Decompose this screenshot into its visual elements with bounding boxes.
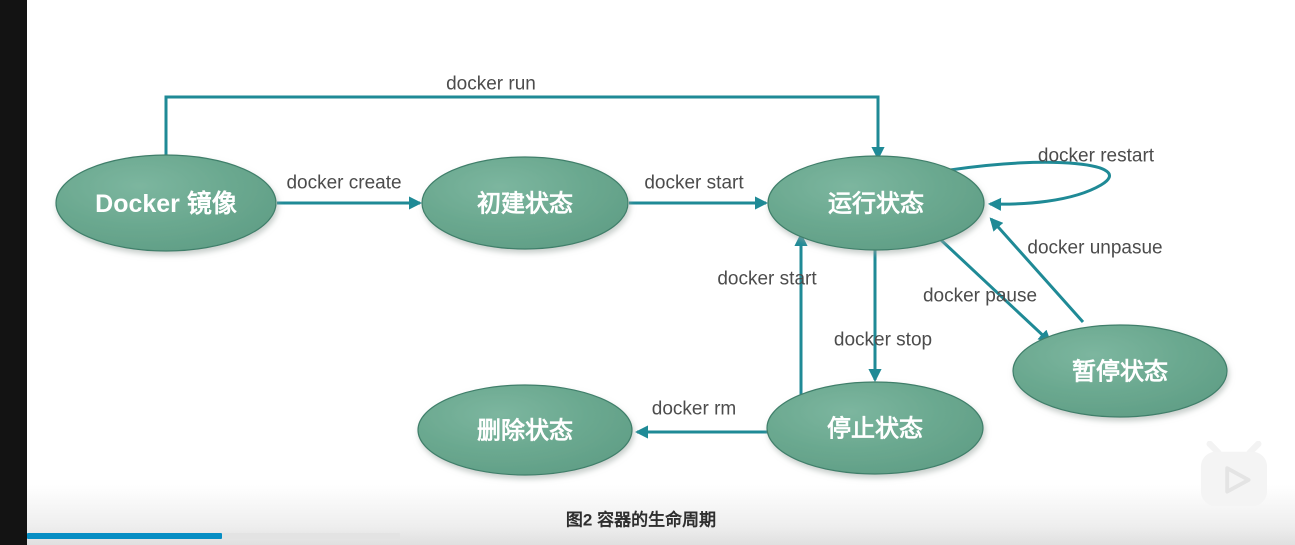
video-player[interactable]: Docker 镜像 初建状态 运行状态 暂停状态 停止状态 删除状态 bbox=[0, 0, 1295, 545]
edge-label-docker-run: docker run bbox=[446, 74, 536, 95]
node-removed-state[interactable]: 删除状态 bbox=[418, 385, 632, 475]
node-stopped-state[interactable]: 停止状态 bbox=[767, 382, 983, 474]
node-paused-state-label: 暂停状态 bbox=[1072, 358, 1168, 386]
docker-container-lifecycle-diagram: Docker 镜像 初建状态 运行状态 暂停状态 停止状态 删除状态 bbox=[0, 0, 1268, 545]
node-running-state-label: 运行状态 bbox=[828, 190, 924, 218]
edge-docker-run bbox=[166, 97, 878, 158]
edge-label-docker-start-created: docker start bbox=[644, 173, 744, 194]
node-stopped-state-label: 停止状态 bbox=[827, 415, 923, 443]
node-paused-state[interactable]: 暂停状态 bbox=[1013, 325, 1227, 417]
node-docker-image-label: Docker 镜像 bbox=[95, 189, 237, 218]
edge-label-docker-create: docker create bbox=[286, 173, 401, 194]
edge-label-docker-stop: docker stop bbox=[834, 330, 932, 351]
edge-label-docker-pause: docker pause bbox=[923, 286, 1037, 307]
edge-label-docker-unpause: docker unpasue bbox=[1027, 238, 1162, 259]
node-running-state[interactable]: 运行状态 bbox=[768, 156, 984, 250]
edge-label-docker-start-stopped: docker start bbox=[717, 269, 817, 290]
node-created-state[interactable]: 初建状态 bbox=[422, 157, 628, 249]
node-created-state-label: 初建状态 bbox=[477, 190, 573, 218]
edge-label-docker-rm: docker rm bbox=[652, 399, 736, 420]
edge-docker-unpause bbox=[991, 219, 1083, 322]
node-docker-image[interactable]: Docker 镜像 bbox=[56, 155, 276, 251]
video-progress-bar[interactable] bbox=[27, 532, 1295, 540]
edge-label-docker-restart: docker restart bbox=[1038, 146, 1155, 167]
edge-group bbox=[166, 97, 1109, 432]
node-removed-state-label: 删除状态 bbox=[477, 417, 573, 445]
progress-played-fill[interactable] bbox=[27, 533, 222, 539]
figure-caption: 图2 容器的生命周期 bbox=[566, 510, 716, 530]
